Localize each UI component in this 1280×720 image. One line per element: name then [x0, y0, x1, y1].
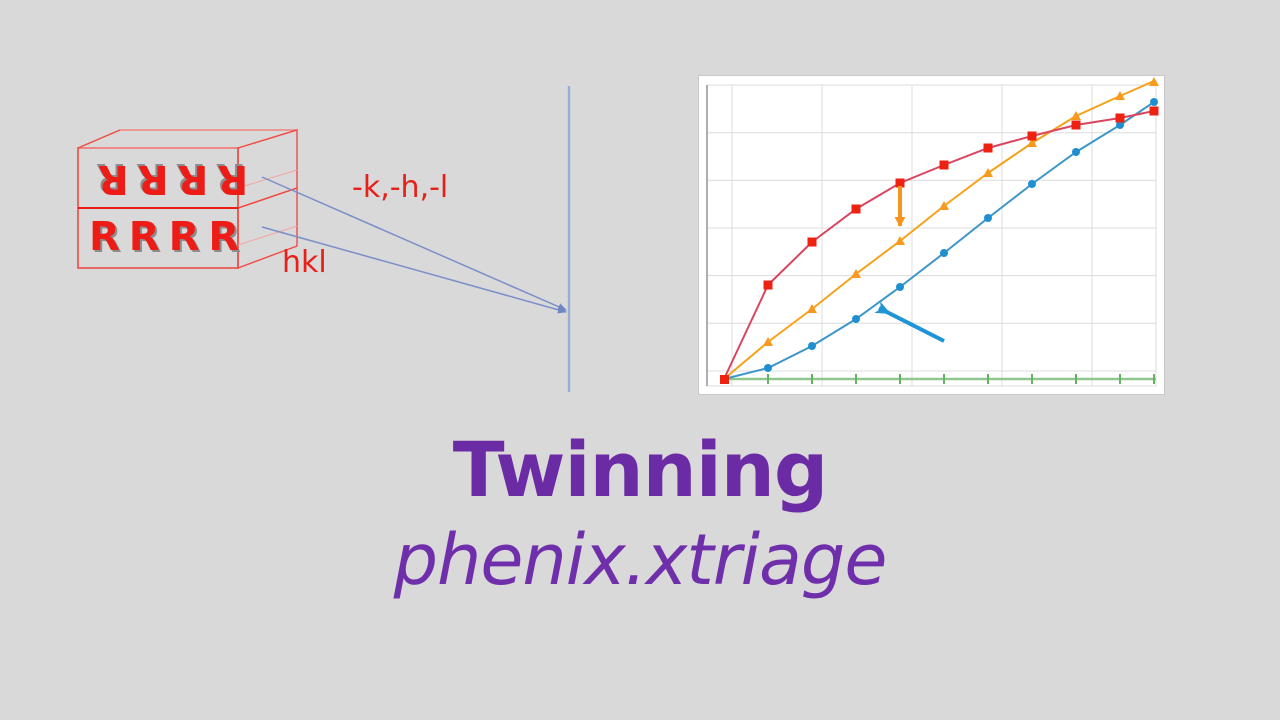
plot-svg [699, 76, 1164, 394]
beam-ray-hkl [262, 227, 566, 312]
page-title: Twinning [0, 430, 1280, 510]
diffracted-beam-rays [262, 177, 566, 312]
slide-canvas: RRRR RRRR -k,-h,-l hkl [0, 0, 1280, 720]
cumulative-intensity-plot [698, 75, 1165, 395]
page-subtitle: phenix.xtriage [0, 520, 1280, 601]
beam-ray-antitwin [262, 177, 566, 310]
title-block: Twinning phenix.xtriage [0, 430, 1280, 600]
plot-background [699, 76, 1164, 394]
